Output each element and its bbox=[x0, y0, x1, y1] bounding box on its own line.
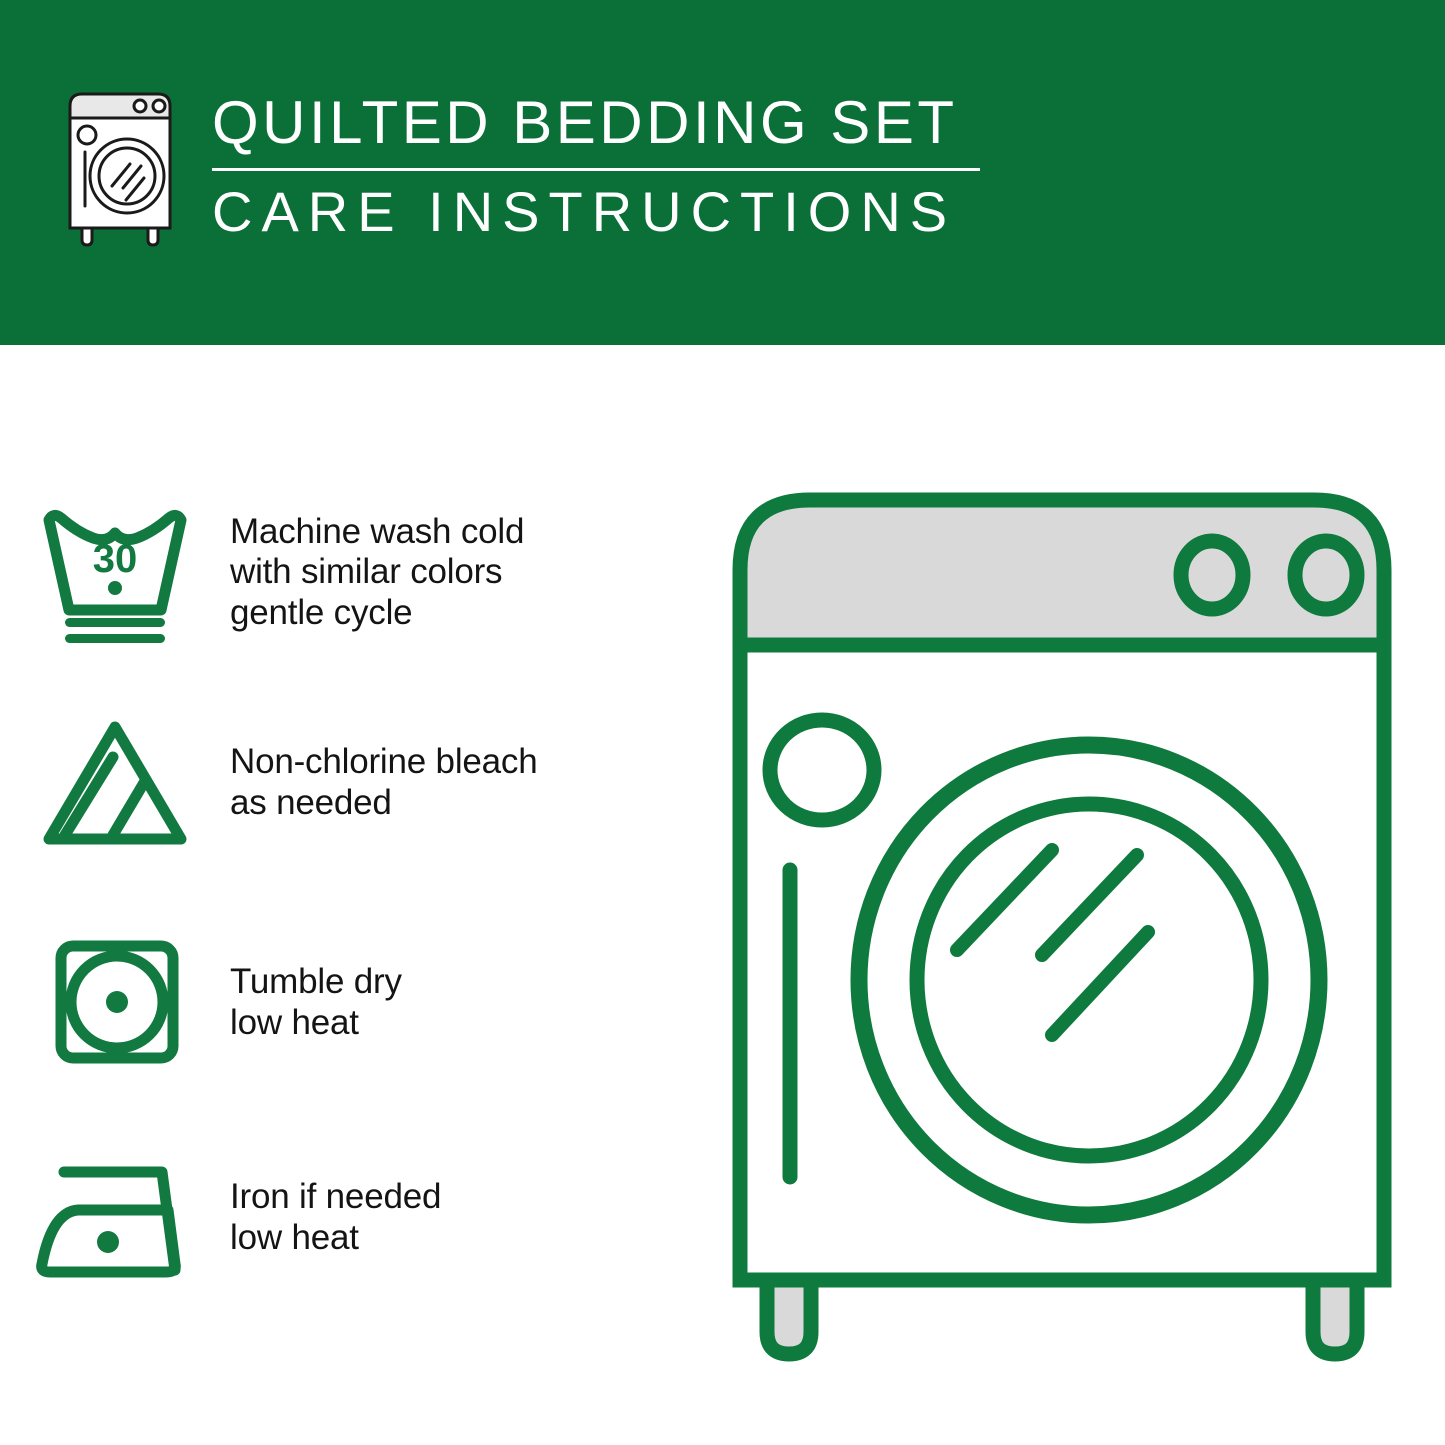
page-title: QUILTED BEDDING SET bbox=[212, 92, 980, 154]
leg bbox=[767, 1280, 811, 1354]
header-text-block: QUILTED BEDDING SET CARE INSTRUCTIONS bbox=[212, 88, 980, 241]
instruction-label-bleach: Non-chlorine bleach as needed bbox=[230, 742, 538, 823]
knob bbox=[1181, 541, 1243, 609]
instruction-list: 30 Machine wash cold with similar colors… bbox=[0, 345, 700, 1445]
front-load-washing-machine-illustration bbox=[712, 470, 1412, 1370]
header-content: QUILTED BEDDING SET CARE INSTRUCTIONS bbox=[60, 88, 980, 248]
control-panel bbox=[740, 500, 1384, 645]
detergent-port bbox=[770, 720, 874, 820]
instruction-label-iron: Iron if needed low heat bbox=[230, 1177, 441, 1258]
page-subtitle: CARE INSTRUCTIONS bbox=[212, 183, 980, 241]
door-inner-ring bbox=[917, 804, 1261, 1156]
instruction-row-iron: Iron if needed low heat bbox=[0, 1135, 700, 1300]
wash-dot bbox=[108, 581, 122, 595]
instruction-row-bleach: Non-chlorine bleach as needed bbox=[0, 700, 700, 865]
leg bbox=[1313, 1280, 1357, 1354]
washing-machine-icon bbox=[60, 88, 185, 248]
tumble-dry-low-heat-icon bbox=[0, 930, 230, 1075]
instruction-label-dry: Tumble dry low heat bbox=[230, 962, 402, 1043]
wash-temperature-value: 30 bbox=[93, 537, 138, 581]
instruction-row-dry: Tumble dry low heat bbox=[0, 920, 700, 1085]
instruction-label-wash: Machine wash cold with similar colors ge… bbox=[230, 512, 524, 634]
wash-basin-30-gentle-icon: 30 bbox=[0, 498, 230, 648]
instruction-row-wash: 30 Machine wash cold with similar colors… bbox=[0, 485, 700, 660]
knob bbox=[1295, 541, 1357, 609]
non-chlorine-bleach-triangle-icon bbox=[0, 713, 230, 853]
title-divider bbox=[212, 168, 980, 171]
header-band: QUILTED BEDDING SET CARE INSTRUCTIONS bbox=[0, 0, 1445, 345]
iron-low-heat-icon bbox=[0, 1148, 230, 1288]
care-instructions-infographic: QUILTED BEDDING SET CARE INSTRUCTIONS 30 bbox=[0, 0, 1445, 1445]
